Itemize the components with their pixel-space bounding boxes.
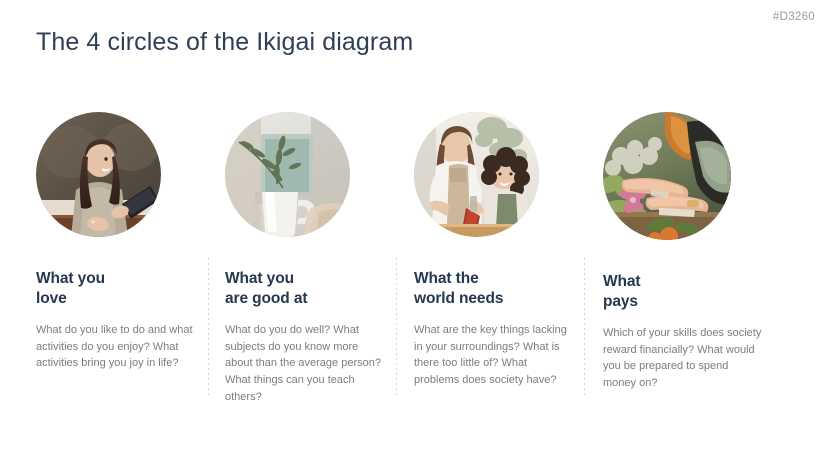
column-heading: What the world needs <box>414 269 582 310</box>
column-divider <box>584 258 585 396</box>
ikigai-columns: What you love What do you like to do and… <box>36 112 796 412</box>
column-body-text: What do you do well? What subjects do yo… <box>225 322 385 406</box>
column-heading-line1: What the <box>414 270 479 287</box>
column-heading-line1: What you <box>36 270 105 287</box>
ikigai-column-what-you-love: What you love What do you like to do and… <box>36 112 204 372</box>
slide-canvas: #D3260 The 4 circles of the Ikigai diagr… <box>0 0 829 466</box>
column-heading-line2: love <box>36 289 204 309</box>
column-heading: What you are good at <box>225 269 393 310</box>
woman-and-child-cooking-photo <box>414 112 539 237</box>
column-body-text: What do you like to do and what activiti… <box>36 322 196 372</box>
page-title: The 4 circles of the Ikigai diagram <box>36 28 413 57</box>
column-body-text: What are the key things lacking in your … <box>414 322 574 389</box>
column-heading-line2: are good at <box>225 289 393 309</box>
column-heading: What you love <box>36 269 204 310</box>
ikigai-column-what-you-are-good-at: What you are good at What do you do well… <box>225 112 393 406</box>
column-heading-line1: What you <box>225 270 294 287</box>
slide-reference-id: #D3260 <box>773 11 815 23</box>
column-heading-line2: world needs <box>414 289 582 309</box>
woman-with-tablet-photo <box>36 112 161 237</box>
ikigai-column-what-pays: What pays Which of your skills does soci… <box>603 112 771 392</box>
column-divider <box>396 258 397 396</box>
mug-and-plant-photo <box>225 112 350 237</box>
column-heading-line1: What <box>603 273 640 290</box>
florist-hands-photo <box>603 112 731 240</box>
column-divider <box>208 258 209 396</box>
column-body-text: Which of your skills does society reward… <box>603 325 763 392</box>
column-heading: What pays <box>603 272 771 313</box>
column-heading-line2: pays <box>603 292 771 312</box>
ikigai-column-what-the-world-needs: What the world needs What are the key th… <box>414 112 582 389</box>
